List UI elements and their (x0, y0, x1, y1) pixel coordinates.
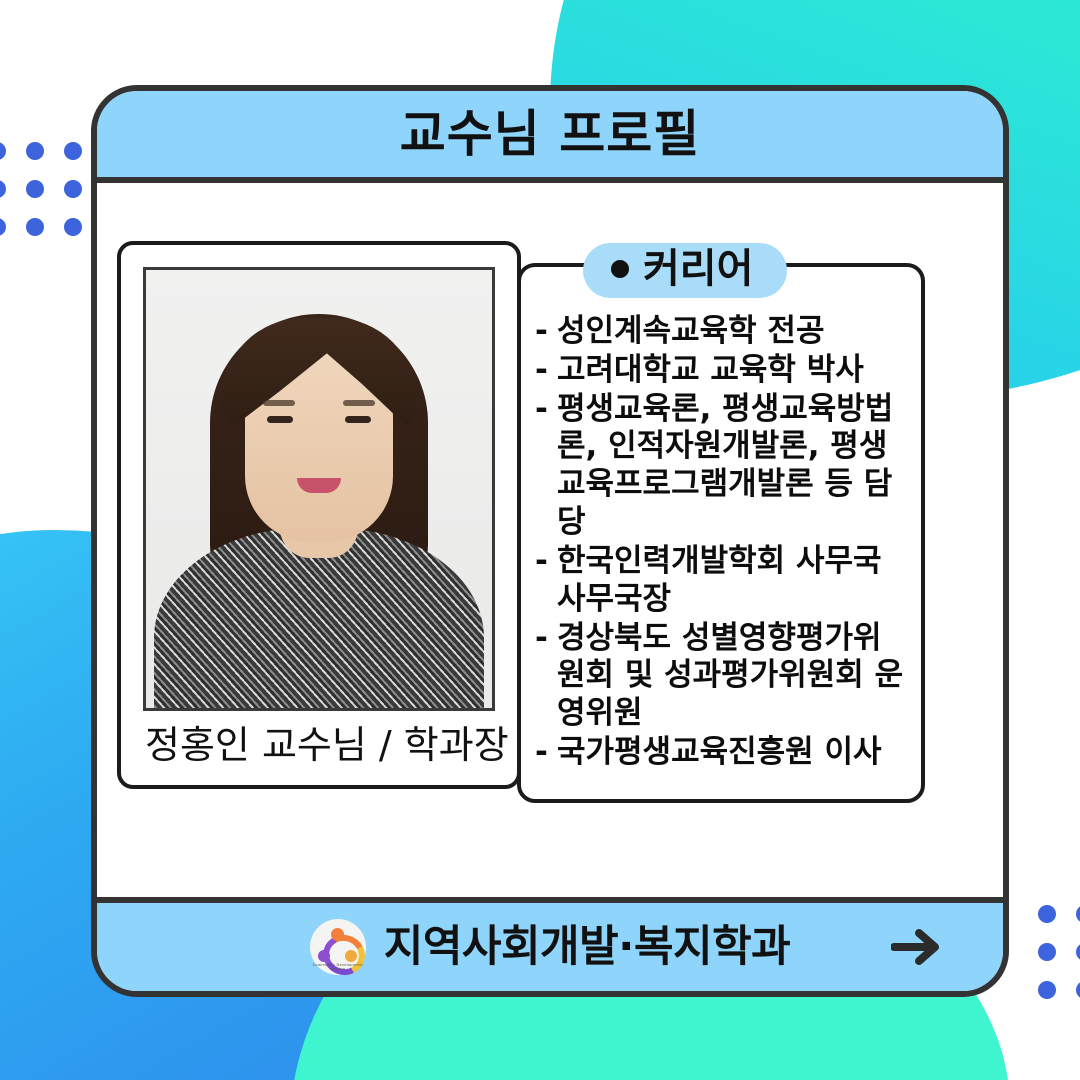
eye-right (345, 416, 371, 423)
dot (26, 180, 44, 198)
photo-caption: 정홍인 교수님 / 학과장 (143, 711, 495, 785)
dot (64, 180, 82, 198)
list-item-text: 경상북도 성별영향평가위원회 및 성과평가위원회 운영위원 (557, 620, 907, 733)
dot (1038, 905, 1056, 923)
list-item-text: 평생교육론, 평생교육방법론, 인적자원개발론, 평생교육프로그램개발론 등 담… (557, 391, 907, 542)
portrait-illustration (146, 270, 492, 708)
list-item-text: 성인계속교육학 전공 (557, 313, 907, 351)
card-footer: Community Development Welfare 지역사회개발·복지학… (97, 897, 1003, 991)
arrow-right-icon[interactable] (891, 926, 943, 968)
list-item: - 국가평생교육진흥원 이사 (535, 734, 907, 772)
list-item: - 한국인력개발학회 사무국 사무국장 (535, 543, 907, 619)
card-header: 교수님 프로필 (97, 91, 1003, 183)
dot (1076, 943, 1080, 961)
eyebrow-right (343, 400, 375, 406)
blue-dot-grid-left (0, 142, 82, 236)
list-item-text: 고려대학교 교육학 박사 (557, 352, 907, 390)
list-dash: - (535, 313, 557, 351)
department-name: 지역사회개발·복지학과 (384, 926, 790, 969)
dot (1076, 981, 1080, 999)
dot (64, 142, 82, 160)
community-development-welfare-logo-icon: Community Development Welfare (310, 919, 366, 975)
career-badge: 커리어 (583, 243, 787, 298)
list-dash: - (535, 620, 557, 658)
dot (64, 218, 82, 236)
dot (1076, 905, 1080, 923)
logo-dot-top (331, 928, 344, 941)
career-column: 커리어 - 성인계속교육학 전공 - 고려대학교 교육학 박사 - 평생교육론,… (517, 241, 1003, 897)
list-item: - 경상북도 성별영향평가위원회 및 성과평가위원회 운영위원 (535, 620, 907, 733)
blue-dot-grid-right (1038, 905, 1080, 999)
photo-column: 정홍인 교수님 / 학과장 (97, 241, 517, 897)
page-title: 교수님 프로필 (400, 109, 700, 159)
career-badge-label: 커리어 (643, 249, 753, 289)
photo-frame: 정홍인 교수님 / 학과장 (117, 241, 521, 789)
list-item: - 성인계속교육학 전공 (535, 313, 907, 351)
list-dash: - (535, 352, 557, 390)
list-dash: - (535, 391, 557, 429)
logo-caption: Community Development Welfare (310, 963, 366, 971)
professor-photo (143, 267, 495, 711)
list-dash: - (535, 543, 557, 581)
logo-dot-left (318, 950, 330, 962)
eye-left (267, 416, 293, 423)
dot (0, 142, 6, 160)
bullet-dot-icon (611, 260, 629, 278)
list-dash: - (535, 734, 557, 772)
list-item-text: 국가평생교육진흥원 이사 (557, 734, 907, 772)
dot (1038, 981, 1056, 999)
eyebrow-left (263, 400, 295, 406)
list-item: - 고려대학교 교육학 박사 (535, 352, 907, 390)
career-list: - 성인계속교육학 전공 - 고려대학교 교육학 박사 - 평생교육론, 평생교… (535, 313, 907, 772)
dot (1038, 943, 1056, 961)
card-body: 정홍인 교수님 / 학과장 커리어 - 성인계속교육학 전공 - 고려대학교 (97, 183, 1003, 897)
profile-card: 교수님 프로필 (91, 85, 1009, 997)
dot (26, 218, 44, 236)
dot (0, 180, 6, 198)
dot (0, 218, 6, 236)
career-box: 커리어 - 성인계속교육학 전공 - 고려대학교 교육학 박사 - 평생교육론,… (517, 263, 925, 803)
list-item: - 평생교육론, 평생교육방법론, 인적자원개발론, 평생교육프로그램개발론 등… (535, 391, 907, 542)
dot (26, 142, 44, 160)
list-item-text: 한국인력개발학회 사무국 사무국장 (557, 543, 907, 619)
logo-dot-right (345, 950, 357, 962)
